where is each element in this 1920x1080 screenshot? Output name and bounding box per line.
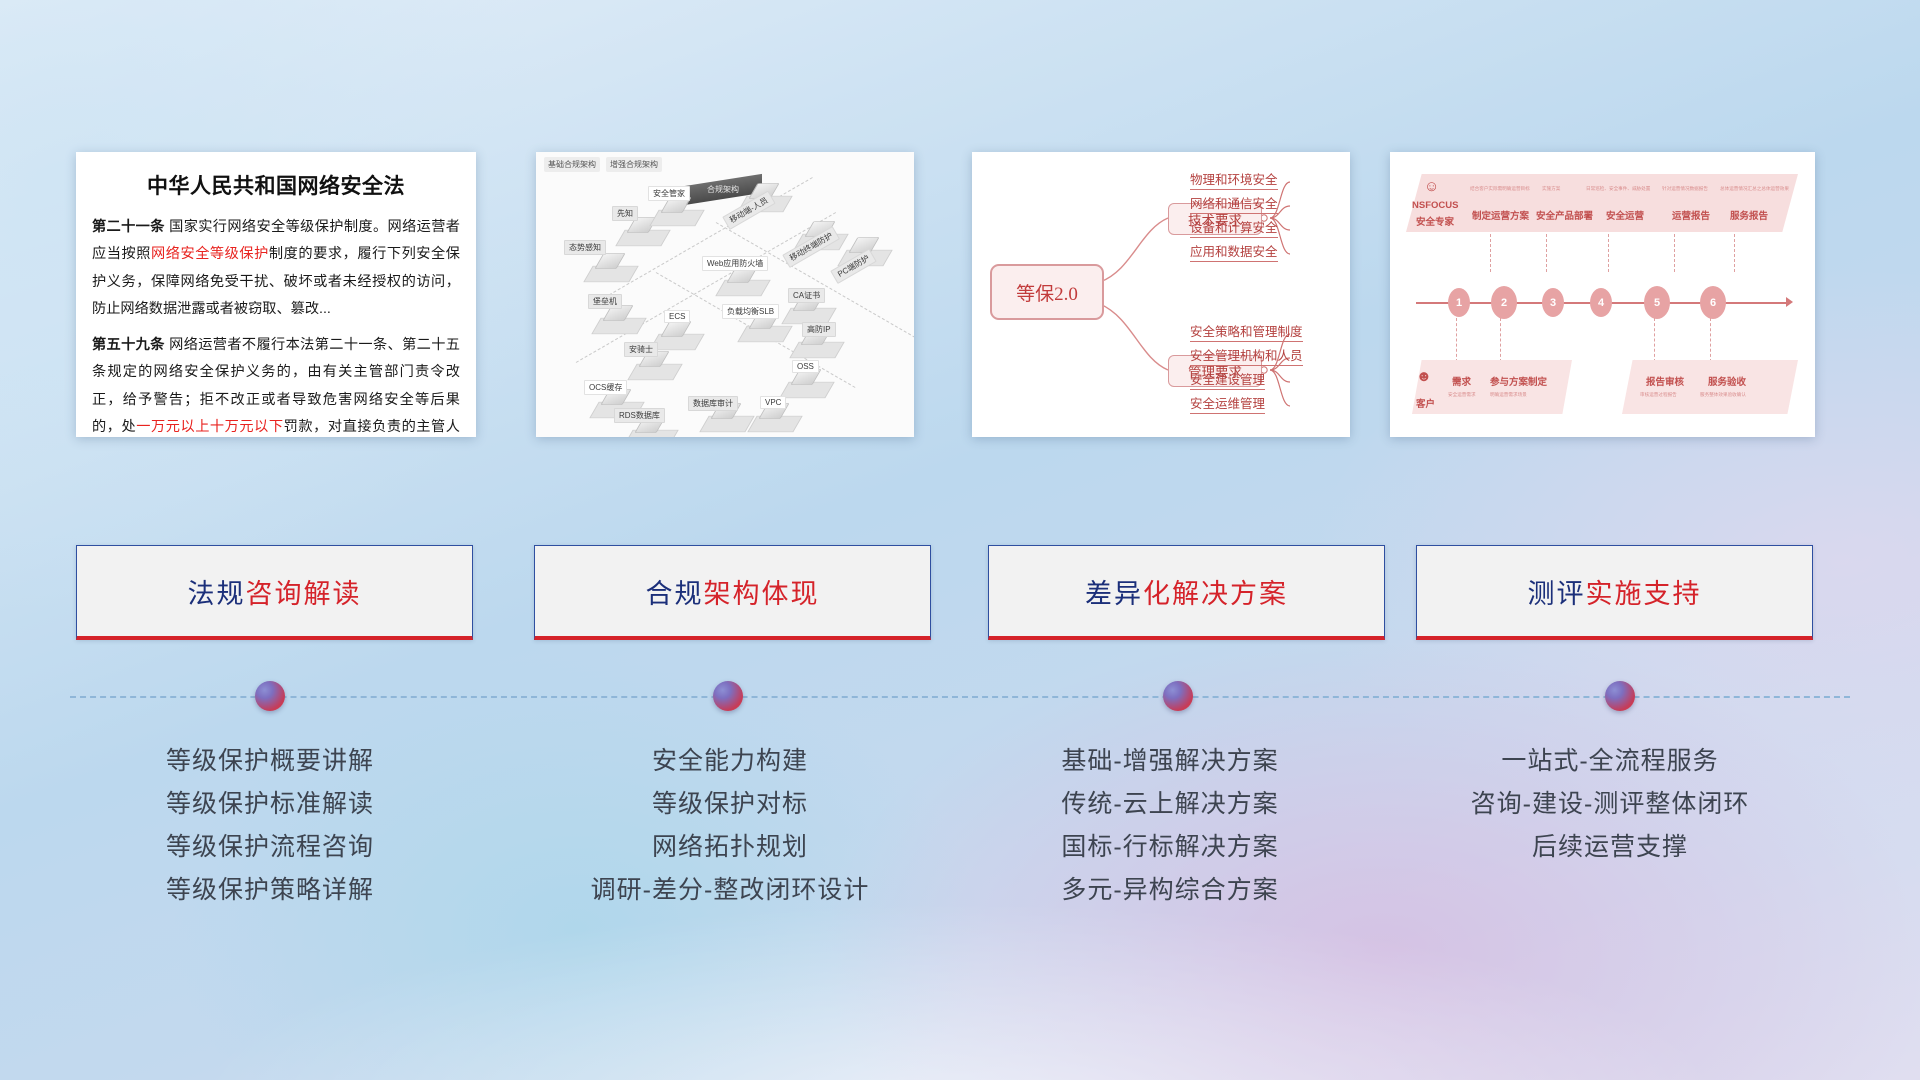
- header-1-part-b: 咨询解读: [246, 572, 362, 611]
- arch-node-baoleiji: [596, 312, 642, 340]
- timeline-step-1[interactable]: 1: [1448, 288, 1470, 317]
- arch-node-dbaudit: [704, 410, 750, 437]
- cards-row: 中华人民共和国网络安全法 第二十一条 国家实行网络安全等级保护制度。网络运营者应…: [0, 0, 1920, 440]
- customer-person-icon: ☻: [1416, 368, 1432, 385]
- arch-label-gaofangip: 高防IP: [802, 322, 836, 337]
- timeline-step-6[interactable]: 6: [1700, 286, 1726, 319]
- arch-label-oss: OSS: [792, 360, 819, 373]
- arch-node-waf: [720, 274, 766, 302]
- law-article-21-highlight: 网络安全等级保护: [151, 246, 269, 262]
- list-column-2: 安全能力构建 等级保护对标 网络拓扑规划 调研-差分-整改闭环设计: [515, 740, 945, 912]
- architecture-tabs[interactable]: 基础合规架构 增强合规架构: [544, 157, 662, 172]
- list-item: 等级保护对标: [515, 783, 945, 826]
- law-article-21-label: 第二十一条: [92, 219, 165, 235]
- list-item: 安全能力构建: [515, 740, 945, 783]
- top-step-3-title: 安全运营: [1606, 208, 1644, 222]
- list-item: 国标-行标解决方案: [955, 826, 1385, 869]
- rail-dot-4[interactable]: [1605, 681, 1635, 711]
- list-item: 等级保护策略详解: [55, 869, 485, 912]
- list-item: 等级保护流程咨询: [55, 826, 485, 869]
- arch-node-rds: [628, 424, 674, 437]
- expert-person-icon: ☺: [1424, 178, 1439, 195]
- header-3-part-a: 差异: [1085, 572, 1143, 611]
- header-1-part-a: 法规: [188, 572, 246, 611]
- timeline-step-5[interactable]: 5: [1644, 286, 1670, 319]
- top-step-1-title: 制定运营方案: [1472, 208, 1529, 222]
- timeline-top-banner: [1406, 174, 1798, 232]
- list-column-1: 等级保护概要讲解 等级保护标准解读 等级保护流程咨询 等级保护策略详解: [55, 740, 485, 912]
- timeline-step-3[interactable]: 3: [1542, 288, 1564, 317]
- section-headers: 法规咨询解读 合规架构体现 差异化解决方案 测评实施支持: [0, 545, 1920, 650]
- arch-label-waf: Web应用防火墙: [702, 256, 768, 271]
- list-item: 咨询-建设-测评整体闭环: [1395, 783, 1825, 826]
- list-column-3: 基础-增强解决方案 传统-云上解决方案 国标-行标解决方案 多元-异构综合方案: [955, 740, 1385, 912]
- rail-dot-2[interactable]: [713, 681, 743, 711]
- timeline-stem-4: [1674, 234, 1676, 272]
- arch-node-taishi: [588, 260, 634, 288]
- card-mindmap-dengbao[interactable]: 等保2.0 技术要求 物理和环境安全 网络和通信安全 设备和计算安全 应用和数据…: [972, 152, 1350, 437]
- bottom-left-2-title: 参与方案制定: [1490, 374, 1547, 388]
- arch-label-baoleiji: 堡垒机: [588, 294, 622, 309]
- bottom-lists: 等级保护概要讲解 等级保护标准解读 等级保护流程咨询 等级保护策略详解 安全能力…: [0, 740, 1920, 980]
- arch-node-slb: [742, 320, 788, 348]
- list-item: 传统-云上解决方案: [955, 783, 1385, 826]
- header-assessment-support[interactable]: 测评实施支持: [1416, 545, 1813, 640]
- timeline-stem-2: [1546, 234, 1548, 272]
- mindmap-leaf-tech-3: 设备和计算安全: [1190, 222, 1278, 238]
- rail-dot-1[interactable]: [255, 681, 285, 711]
- timeline-stem-8: [1654, 318, 1656, 362]
- arch-label-anqishi: 安骑士: [624, 342, 658, 357]
- timeline-stem-9: [1710, 318, 1712, 362]
- list-item: 等级保护概要讲解: [55, 740, 485, 783]
- architecture-tab-enhanced[interactable]: 增强合规架构: [606, 157, 662, 172]
- top-step-2-title: 安全产品部署: [1536, 208, 1593, 222]
- top-step-4-detail: 针对运营情况数据报告: [1662, 186, 1708, 192]
- arch-label-ca: CA证书: [788, 288, 825, 303]
- arch-label-xianzhi: 先知: [612, 206, 638, 221]
- header-3-part-b: 化解决方案: [1143, 572, 1288, 611]
- timeline-arrow-icon: [1786, 297, 1793, 307]
- arch-node-anqishi: [632, 358, 678, 386]
- nsfocus-timeline: ☺ NSFOCUS 安全专家 结合客户实际需明确运营目标 制定运营方案 实施方案…: [1390, 152, 1815, 437]
- arch-label-rds: RDS数据库: [614, 408, 665, 423]
- bottom-left-1-detail: 安全运营需求: [1448, 392, 1476, 398]
- bottom-right-2-detail: 服务整体效果验收确认: [1700, 392, 1746, 398]
- arch-node-guanjia: [654, 204, 700, 232]
- timeline-step-2[interactable]: 2: [1491, 286, 1517, 319]
- mindmap-leaf-mgmt-1: 安全策略和管理制度: [1190, 326, 1303, 342]
- mindmap-leaf-tech-4: 应用和数据安全: [1190, 246, 1278, 262]
- mindmap-leaf-mgmt-3: 安全建设管理: [1190, 374, 1265, 390]
- architecture-tab-basic[interactable]: 基础合规架构: [544, 157, 600, 172]
- mindmap-leaf-tech-1: 物理和环境安全: [1190, 174, 1278, 190]
- arch-label-ocs: OCS缓存: [584, 380, 627, 395]
- arch-node-oss: [784, 376, 830, 404]
- header-2-part-a: 合规: [646, 572, 704, 611]
- law-title: 中华人民共和国网络安全法: [76, 170, 476, 200]
- rail-dot-3[interactable]: [1163, 681, 1193, 711]
- law-paragraph-21: 第二十一条 国家实行网络安全等级保护制度。网络运营者应当按照网络安全等级保护制度…: [92, 214, 460, 323]
- architecture-diagram: 基础合规架构 增强合规架构 合规架构 先知 安全管家 态势感知 堡垒机 ECS: [536, 152, 914, 437]
- list-item: 基础-增强解决方案: [955, 740, 1385, 783]
- law-body: 第二十一条 国家实行网络安全等级保护制度。网络运营者应当按照网络安全等级保护制度…: [76, 214, 476, 437]
- list-item: 等级保护标准解读: [55, 783, 485, 826]
- expert-label-line2: 安全专家: [1416, 214, 1454, 228]
- header-4-part-b: 实施支持: [1586, 572, 1702, 611]
- list-item: 一站式-全流程服务: [1395, 740, 1825, 783]
- top-step-2-detail: 实施方案: [1542, 186, 1560, 192]
- bottom-right-2-title: 服务验收: [1708, 374, 1746, 388]
- timeline-stem-6: [1456, 318, 1458, 362]
- card-compliance-architecture[interactable]: 基础合规架构 增强合规架构 合规架构 先知 安全管家 态势感知 堡垒机 ECS: [536, 152, 914, 437]
- mindmap-leaf-tech-2: 网络和通信安全: [1190, 198, 1278, 214]
- timeline-step-4[interactable]: 4: [1590, 288, 1612, 317]
- law-paragraph-59: 第五十九条 网络运营者不履行本法第二十一条、第二十五条规定的网络安全保护义务的，…: [92, 332, 460, 437]
- header-regulation-consulting[interactable]: 法规咨询解读: [76, 545, 473, 640]
- arch-label-vpc: VPC: [760, 396, 786, 409]
- list-item: 调研-差分-整改闭环设计: [515, 869, 945, 912]
- top-step-5-detail: 总体运营情况汇总之总体运营效果: [1720, 186, 1789, 192]
- expert-label-line1: NSFOCUS: [1412, 200, 1458, 211]
- bottom-right-1-detail: 审核运营过程报告: [1640, 392, 1677, 398]
- list-item: 网络拓扑规划: [515, 826, 945, 869]
- arch-label-taishi: 态势感知: [564, 240, 606, 255]
- arch-label-guanjia: 安全管家: [648, 186, 690, 201]
- header-2-part-b: 架构体现: [704, 572, 820, 611]
- mindmap-root-node[interactable]: 等保2.0: [990, 264, 1104, 320]
- bottom-left-1-title: 需求: [1452, 374, 1471, 388]
- mindmap-leaf-mgmt-4: 安全运维管理: [1190, 398, 1265, 414]
- top-step-5-title: 服务报告: [1730, 208, 1768, 222]
- card-cybersecurity-law[interactable]: 中华人民共和国网络安全法 第二十一条 国家实行网络安全等级保护制度。网络运营者应…: [76, 152, 476, 437]
- bottom-left-2-detail: 明确运营需求场景: [1490, 392, 1527, 398]
- header-differentiated-solution[interactable]: 差异化解决方案: [988, 545, 1385, 640]
- top-step-4-title: 运营报告: [1672, 208, 1710, 222]
- header-4-part-a: 测评: [1528, 572, 1586, 611]
- timeline-stem-3: [1608, 234, 1610, 272]
- top-step-3-detail: 日常巡检、安全事件、威胁处置: [1586, 186, 1650, 192]
- timeline-stem-5: [1734, 234, 1736, 272]
- card-nsfocus-timeline[interactable]: ☺ NSFOCUS 安全专家 结合客户实际需明确运营目标 制定运营方案 实施方案…: [1390, 152, 1815, 437]
- list-column-4: 一站式-全流程服务 咨询-建设-测评整体闭环 后续运营支撑: [1395, 740, 1825, 869]
- timeline-stem-7: [1500, 318, 1502, 362]
- header-compliance-architecture[interactable]: 合规架构体现: [534, 545, 931, 640]
- mindmap-leaf-mgmt-2: 安全管理机构和人员: [1190, 350, 1303, 366]
- timeline-rail: [70, 696, 1850, 698]
- timeline-stem-1: [1490, 234, 1492, 272]
- arch-label-slb: 负载均衡SLB: [722, 304, 779, 319]
- law-fine-amount-company: 一万元以上十万元以下: [136, 419, 283, 435]
- arch-node-vpc: [752, 410, 798, 437]
- bottom-right-1-title: 报告审核: [1646, 374, 1684, 388]
- list-item: 多元-异构综合方案: [955, 869, 1385, 912]
- top-step-1-detail: 结合客户实际需明确运营目标: [1470, 186, 1530, 192]
- law-article-59-label: 第五十九条: [92, 337, 165, 353]
- arch-label-ecs: ECS: [664, 310, 690, 323]
- mindmap: 等保2.0 技术要求 物理和环境安全 网络和通信安全 设备和计算安全 应用和数据…: [972, 152, 1350, 437]
- list-item: 后续运营支撑: [1395, 826, 1825, 869]
- arch-label-dbaudit: 数据库审计: [688, 396, 738, 411]
- customer-label: 客户: [1416, 396, 1435, 410]
